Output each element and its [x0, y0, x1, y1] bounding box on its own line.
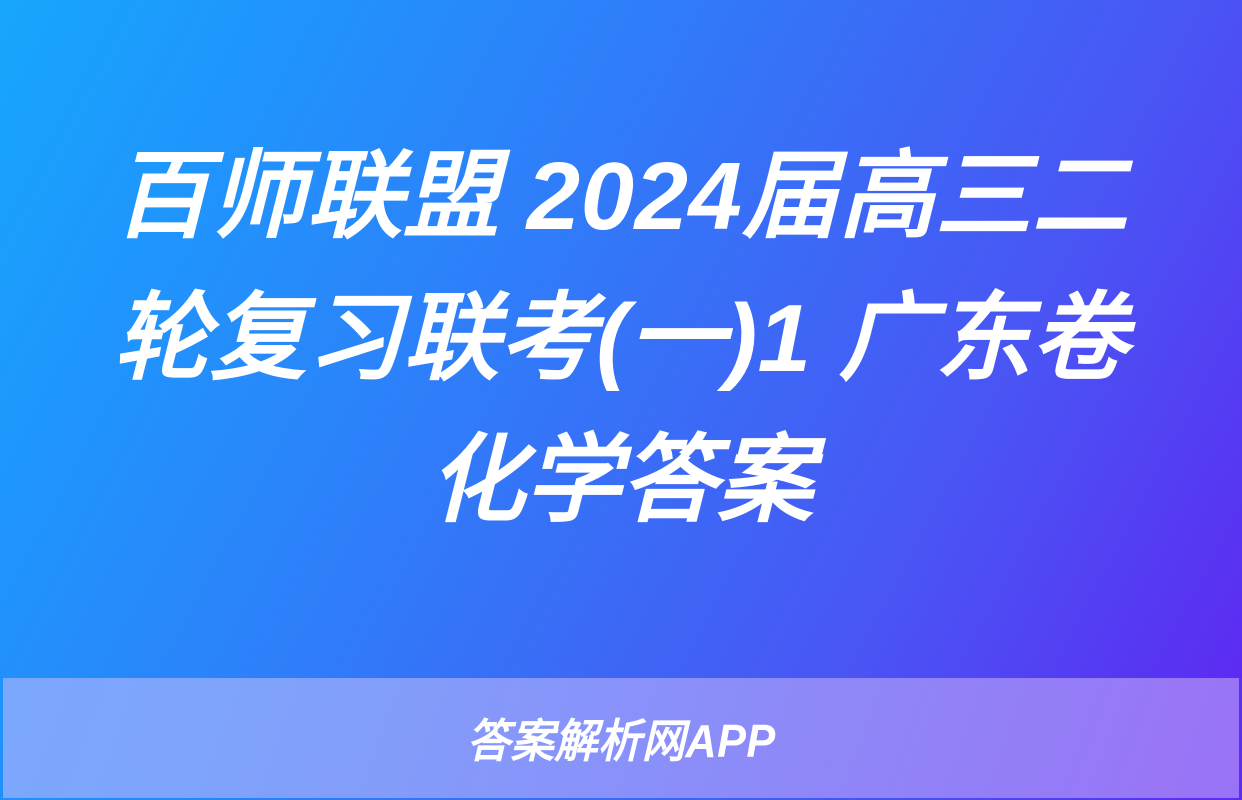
hero-gradient-panel: 百师联盟 2024届高三二 轮复习联考(一)1 广东卷 化学答案 — [0, 0, 1242, 678]
title-line-2: 轮复习联考(一)1 广东卷 — [66, 268, 1176, 410]
page-title: 百师联盟 2024届高三二 轮复习联考(一)1 广东卷 化学答案 — [66, 126, 1176, 552]
title-line-1: 百师联盟 2024届高三二 — [66, 126, 1176, 268]
watermark-app-label: 答案解析网APP — [467, 705, 776, 771]
watermark-band: 答案解析网APP — [3, 678, 1239, 798]
answer-poster: 百师联盟 2024届高三二 轮复习联考(一)1 广东卷 化学答案 答案解析网AP… — [0, 0, 1242, 800]
title-line-3: 化学答案 — [66, 410, 1176, 552]
